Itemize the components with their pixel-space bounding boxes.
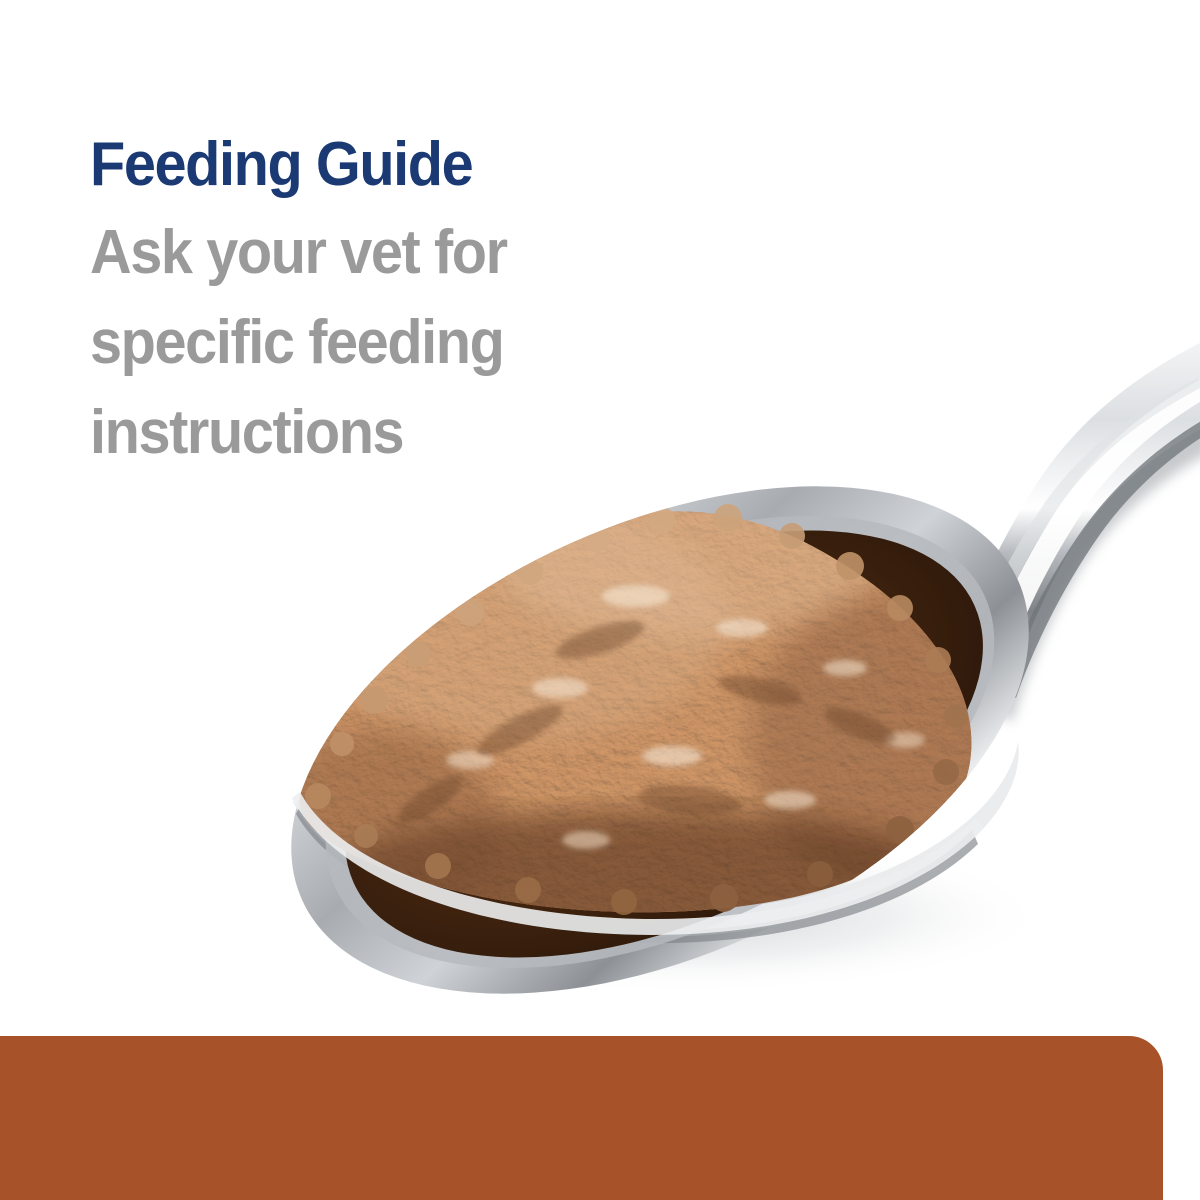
headline-block: Feeding Guide Ask your vet for specific … — [90, 128, 790, 478]
page-title: Feeding Guide — [90, 128, 741, 202]
subtitle-line-1: Ask your vet for — [90, 208, 741, 298]
feeding-guide-panel: Feeding Guide Ask your vet for specific … — [0, 0, 1200, 1200]
subtitle-line-3: instructions — [90, 388, 741, 478]
subtitle-line-2: specific feeding — [90, 298, 741, 388]
footer-accent-band — [0, 1036, 1163, 1200]
